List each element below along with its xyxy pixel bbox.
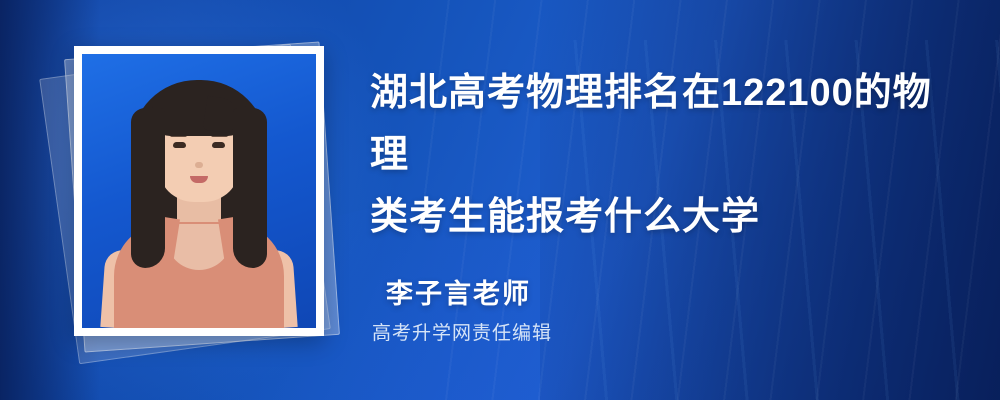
headline-line-1: 湖北高考物理排名在122100的物理 [370, 62, 970, 186]
photo-frame [74, 46, 324, 336]
headline-block: 湖北高考物理排名在122100的物理 类考生能报考什么大学 [370, 62, 970, 248]
author-portrait-photo [82, 54, 316, 328]
headline-line-2: 类考生能报考什么大学 [370, 186, 970, 248]
portrait-eye-right [212, 142, 225, 148]
promo-banner: 湖北高考物理排名在122100的物理 类考生能报考什么大学 李子言老师 高考升学… [0, 0, 1000, 400]
portrait-hair-right [233, 108, 267, 268]
author-name: 李子言老师 [386, 272, 531, 311]
photo-card-stack [48, 38, 348, 368]
portrait-nose [195, 162, 203, 168]
portrait-eye-left [173, 142, 186, 148]
author-role: 高考升学网责任编辑 [372, 318, 552, 345]
portrait-hair-left [131, 108, 165, 268]
